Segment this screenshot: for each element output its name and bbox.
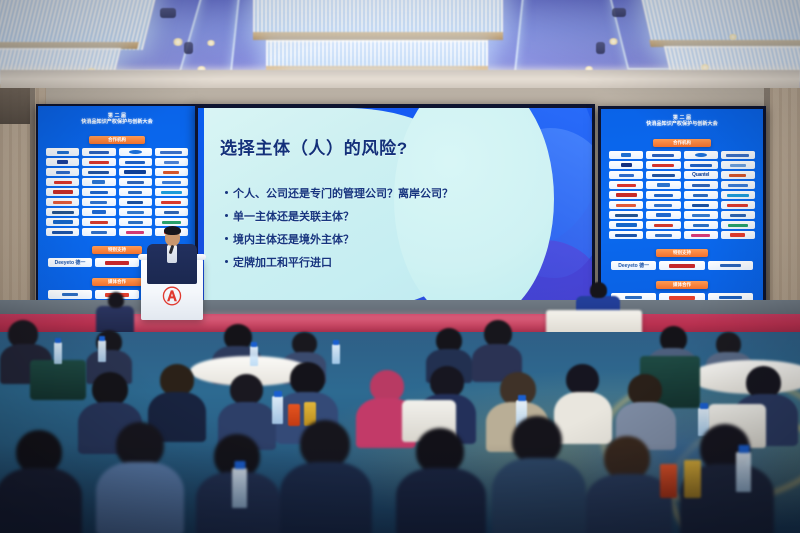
sponsor-logo-tile: [119, 198, 152, 206]
audience-head: [230, 374, 263, 405]
sponsor-logo-tile: [721, 171, 755, 179]
sponsor-logo-tile: [155, 198, 188, 206]
main-screen-bezel: 选择主体（人）的风险? 个人、公司还是专门的管理公司？离岸公司？ 单一主体还是关…: [195, 104, 595, 314]
sponsor-logo-tile: [48, 290, 92, 299]
sponsor-logo-tile: [646, 151, 680, 159]
bottle-cap: [99, 336, 105, 341]
sponsor-logo-tile: [721, 181, 755, 189]
audience-body: [0, 468, 82, 533]
sponsor-logo-tile-deeyeto: [46, 228, 79, 236]
wall-panel-dark: [0, 88, 30, 124]
bottle-cap: [251, 342, 257, 347]
sponsor-logo-tile: [684, 161, 718, 169]
slide-bullet-list: 个人、公司还是专门的管理公司？离岸公司？ 单一主体还是关联主体？ 境内主体还是境…: [225, 181, 453, 273]
audience-head: [566, 364, 599, 395]
sponsor-logo-tile: [609, 201, 643, 209]
sponsor-header-line2: 快消品知识产权保护与创新大会: [38, 120, 196, 126]
sponsor-logo-tile: [46, 218, 79, 226]
presentation-slide: 选择主体（人）的风险? 个人、公司还是专门的管理公司？离岸公司？ 单一主体还是关…: [198, 108, 592, 311]
audience-head: [484, 320, 512, 347]
sponsor-logo-tile: [684, 231, 718, 239]
sponsor-header-right: 第 二 届 快消品知识产权保护与创新大会: [601, 116, 763, 128]
audience-head: [512, 416, 562, 464]
sponsor-logo-tile: [155, 188, 188, 196]
bullet-dot-icon: [225, 191, 228, 194]
sponsor-logo-tile: [721, 161, 755, 169]
beverage-can: [684, 460, 701, 498]
sponsor-logo-tile: [119, 148, 152, 156]
audience-body: [96, 462, 184, 533]
chandelier-crystals: [253, 0, 503, 36]
sponsor-header-line2: 快消品知识产权保护与创新大会: [601, 122, 763, 128]
sponsor-logo-grid-left: [46, 148, 188, 236]
sponsor-logo-tile: [155, 158, 188, 166]
bullet-text: 定牌加工和平行进口: [233, 254, 332, 270]
sponsor-logo-tile: [46, 148, 79, 156]
sponsor-logo-tile: [155, 168, 188, 176]
sponsor-logo-tile: [82, 168, 115, 176]
sponsor-logo-tile: [609, 231, 643, 239]
bullet-text: 境内主体还是境外主体？: [233, 231, 354, 247]
sponsor-logo-tile: [46, 198, 79, 206]
slide-bullet-item: 境内主体还是境外主体？: [225, 227, 453, 250]
sponsor-logo-tile: [609, 211, 643, 219]
sponsor-band-media: 媒体合作: [92, 278, 142, 286]
sponsor-logo-tile: [82, 198, 115, 206]
bottle-cap: [700, 403, 708, 409]
ceiling-speaker: [596, 42, 605, 54]
sponsor-logo-tile: [82, 218, 115, 226]
sponsor-logo-tile: [684, 201, 718, 209]
water-bottle: [232, 468, 247, 508]
audience-head: [92, 372, 128, 406]
sponsor-band-partners: 合作机构: [653, 139, 711, 147]
audience-body: [492, 458, 586, 533]
slide-bullet-item: 个人、公司还是专门的管理公司？离岸公司？: [225, 181, 453, 204]
sponsor-logo-tile-quantel: [119, 168, 152, 176]
sponsor-logo-tile: [684, 221, 718, 229]
sponsor-logo-tile: [646, 231, 680, 239]
sponsor-logo-tile: [646, 201, 680, 209]
guest-hair: [590, 282, 607, 298]
sponsor-logo-tile: [119, 158, 152, 166]
sponsor-band-media: 媒体合作: [656, 281, 708, 289]
sponsor-logo-tile: [609, 161, 643, 169]
audience-row-near: [0, 412, 800, 533]
water-bottle: [736, 452, 751, 492]
sponsor-logo-tile: [659, 261, 704, 270]
sponsor-logo-tile: [46, 168, 79, 176]
sponsor-logo-tile-deeyeto-label: Deeyeto 德一: [611, 261, 656, 270]
slide-bullet-item: 单一主体还是关联主体？: [225, 204, 453, 227]
sponsor-logo-tile: [46, 158, 79, 166]
sponsor-logo-tile: [609, 191, 643, 199]
sponsor-logo-tile: [155, 178, 188, 186]
sponsor-band-special: 特别支持: [92, 246, 142, 254]
sponsor-logo-tile-quantel: Quantel: [684, 171, 718, 179]
sponsor-logo-tile: [708, 261, 753, 270]
sponsor-logo-tile: [721, 211, 755, 219]
sponsor-logo-tile: [721, 191, 755, 199]
bottle-cap: [274, 391, 282, 397]
bottle-cap: [234, 461, 245, 469]
sponsor-logo-tile: [155, 148, 188, 156]
bottle-cap: [518, 395, 526, 401]
chandelier-gold-band: [253, 32, 503, 40]
sponsor-logo-tile: [646, 171, 680, 179]
sponsor-header-left: 第 二 届 快消品知识产权保护与创新大会: [38, 114, 196, 126]
sponsor-logo-tile: [721, 151, 755, 159]
sponsor-logo-grid-special-right: Deeyeto 德一: [611, 261, 753, 270]
bullet-dot-icon: [225, 237, 228, 240]
sponsor-logo-tile: [95, 258, 139, 267]
sponsor-logo-tile: [721, 231, 755, 239]
sponsor-logo-tile: [46, 208, 79, 216]
sponsor-logo-tile: [119, 188, 152, 196]
bottle-cap: [333, 340, 339, 345]
speaker-hair: [164, 226, 181, 235]
sponsor-logo-tile: [82, 228, 115, 236]
downlight: [206, 40, 216, 46]
bottle-cap: [55, 338, 61, 343]
audience-head: [300, 420, 350, 468]
sponsor-band-special: 特别支持: [656, 249, 708, 257]
downlight: [608, 38, 619, 45]
sponsor-logo-tile: [155, 208, 188, 216]
conference-photo: 第 二 届 快消品知识产权保护与创新大会 合作机构: [0, 0, 800, 533]
ceiling-speaker: [612, 8, 626, 17]
sponsor-logo-tile: [684, 191, 718, 199]
sponsor-logo-tile: [82, 178, 115, 186]
sponsor-logo-tile: [646, 211, 680, 219]
sponsor-logo-tile: [609, 181, 643, 189]
sponsor-logo-tile: [119, 208, 152, 216]
sponsor-logo-tile: [646, 191, 680, 199]
sponsor-logo-tile-deeyeto-label: Deeyeto 德一: [48, 258, 92, 267]
sponsor-logo-tile: [609, 221, 643, 229]
downlight: [172, 38, 184, 46]
speaker: [139, 224, 205, 276]
sponsor-logo-tile: [609, 151, 643, 159]
audience-body: [280, 462, 372, 533]
sponsor-logo-tile: [684, 151, 718, 159]
downlight: [728, 34, 738, 40]
sponsor-logo-tile: [609, 171, 643, 179]
audience-head: [290, 362, 325, 395]
sponsor-logo-tile: [646, 181, 680, 189]
sponsor-logo-tile: [119, 178, 152, 186]
ceiling: [0, 0, 800, 96]
bullet-text: 单一主体还是关联主体？: [233, 208, 354, 224]
podium-logo-icon: Ⓐ: [162, 288, 181, 307]
bullet-dot-icon: [225, 260, 228, 263]
ceiling-speaker: [184, 42, 193, 54]
sponsor-logo-tile: [82, 158, 115, 166]
bullet-text: 个人、公司还是专门的管理公司？离岸公司？: [233, 185, 453, 201]
bottle-cap: [738, 445, 749, 453]
sponsor-logo-tile: [646, 161, 680, 169]
beverage-can: [660, 464, 677, 498]
bullet-dot-icon: [225, 214, 228, 217]
sponsor-logo-tile: [46, 188, 79, 196]
sponsor-logo-tile: [721, 221, 755, 229]
sponsor-logo-tile: [82, 208, 115, 216]
sponsor-logo-tile: [46, 178, 79, 186]
audience-body: [396, 468, 486, 533]
sponsor-band-partners: 合作机构: [89, 136, 145, 144]
slide-bullet-item: 定牌加工和平行进口: [225, 250, 453, 273]
ceiling-speaker: [160, 8, 176, 18]
sponsor-logo-tile: [721, 201, 755, 209]
sponsor-logo-tile: [684, 181, 718, 189]
sponsor-logo-grid-right: Quantel: [609, 151, 755, 239]
slide-title: 选择主体（人）的风险?: [220, 134, 408, 159]
sponsor-logo-tile: [82, 148, 115, 156]
sponsor-logo-tile: [684, 211, 718, 219]
sponsor-logo-tile: [646, 221, 680, 229]
stage-person-hair: [108, 292, 124, 308]
sponsor-logo-tile: [82, 188, 115, 196]
